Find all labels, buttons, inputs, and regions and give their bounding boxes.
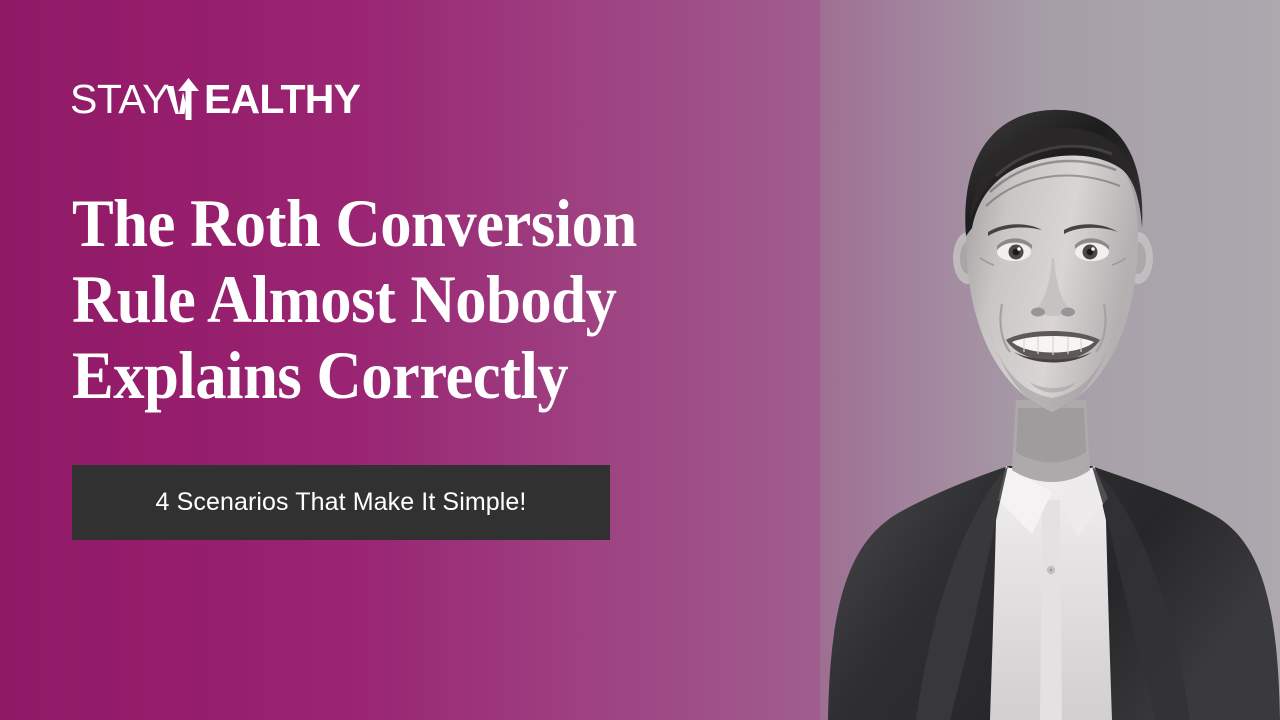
host-portrait-photo: [820, 0, 1280, 720]
logo-text-stay: STAY: [70, 79, 169, 120]
logo-text-wealthy: EALTHY: [204, 79, 360, 120]
upward-arrow-w-mark-icon: [166, 78, 206, 120]
video-thumbnail: STAY EALTHY The Roth Conversion Rule Alm…: [0, 0, 1280, 720]
subtitle-banner: 4 Scenarios That Make It Simple!: [72, 465, 610, 540]
subtitle-text: 4 Scenarios That Make It Simple!: [156, 488, 527, 517]
page-title: The Roth Conversion Rule Almost Nobody E…: [72, 185, 799, 413]
headline-line-2: Rule Almost Nobody: [72, 261, 799, 337]
headline-line-1: The Roth Conversion: [72, 185, 799, 261]
stay-wealthy-logo[interactable]: STAY EALTHY: [70, 72, 360, 120]
headline-line-3: Explains Correctly: [72, 337, 799, 413]
